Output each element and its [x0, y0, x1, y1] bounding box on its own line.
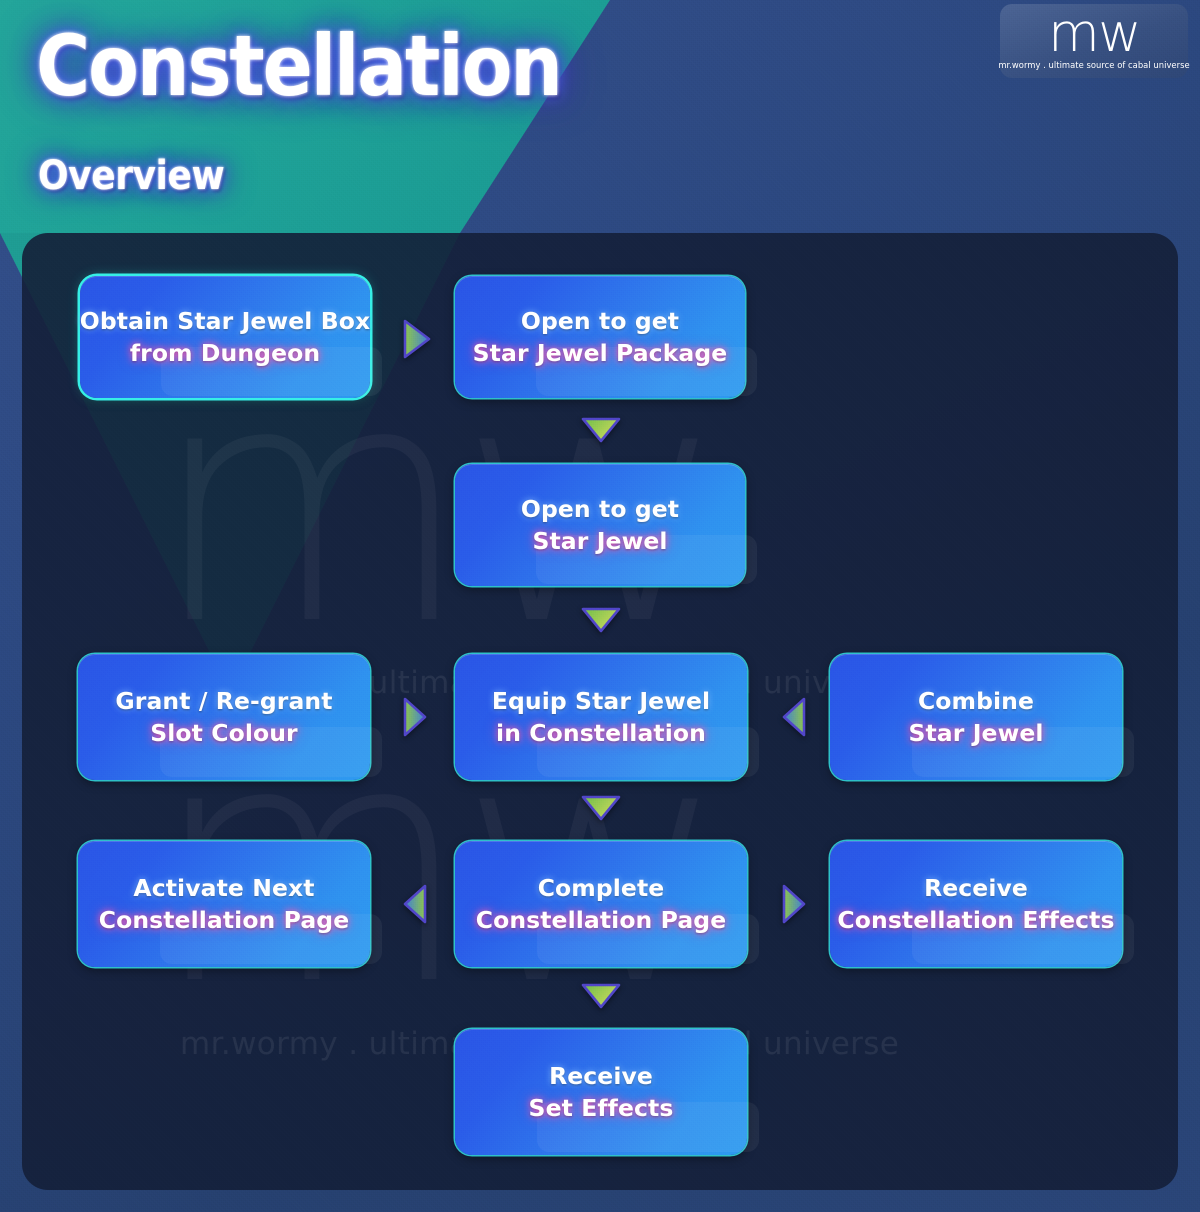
flow-node-complete-page[interactable]: Complete Constellation Page: [455, 841, 747, 967]
flow-node-obtain-star-jewel-box[interactable]: Obtain Star Jewel Box from Dungeon: [80, 276, 370, 398]
arrow-complete-to-activate: [400, 881, 430, 927]
page-title: Constellation: [36, 24, 561, 108]
mw-logo-mark: mw: [1048, 11, 1140, 57]
page-subtitle: Overview: [38, 156, 224, 196]
flow-node-line2: from Dungeon: [130, 337, 320, 369]
arrow-complete-to-set-effects: [578, 980, 624, 1012]
flow-node-activate-next-page[interactable]: Activate Next Constellation Page: [78, 841, 370, 967]
flow-node-line1: Complete: [538, 872, 665, 904]
mw-logo-tagline: mr.wormy . ultimate source of cabal univ…: [998, 60, 1189, 70]
flow-node-line2: in Constellation: [496, 717, 706, 749]
flow-node-line2: Set Effects: [529, 1092, 674, 1124]
flow-node-line2: Constellation Page: [476, 904, 727, 936]
flow-node-line2: Star Jewel Package: [473, 337, 728, 369]
flow-node-equip-star-jewel[interactable]: Equip Star Jewel in Constellation: [455, 654, 747, 780]
flow-node-line1: Receive: [549, 1060, 653, 1092]
flow-node-line2: Star Jewel: [908, 717, 1043, 749]
flow-node-line2: Constellation Page: [99, 904, 350, 936]
flow-node-line2: Slot Colour: [150, 717, 297, 749]
flow-node-line1: Receive: [924, 872, 1028, 904]
flow-node-combine-star-jewel[interactable]: Combine Star Jewel: [830, 654, 1122, 780]
flow-node-grant-slot-colour[interactable]: Grant / Re-grant Slot Colour: [78, 654, 370, 780]
arrow-grant-to-equip: [400, 694, 430, 740]
flow-node-line1: Equip Star Jewel: [492, 685, 710, 717]
flow-node-line1: Combine: [918, 685, 1034, 717]
flow-node-line1: Grant / Re-grant: [115, 685, 332, 717]
arrow-obtain-to-open-package: [400, 316, 434, 362]
arrow-complete-to-receive-effects: [779, 881, 809, 927]
flow-node-line1: Open to get: [521, 493, 679, 525]
flow-node-line1: Activate Next: [133, 872, 314, 904]
flow-node-open-star-jewel-package[interactable]: Open to get Star Jewel Package: [455, 276, 745, 398]
flow-node-receive-constellation-effects[interactable]: Receive Constellation Effects: [830, 841, 1122, 967]
flow-node-receive-set-effects[interactable]: Receive Set Effects: [455, 1029, 747, 1155]
arrow-open-package-to-open-jewel: [578, 414, 624, 446]
flow-node-open-star-jewel[interactable]: Open to get Star Jewel: [455, 464, 745, 586]
flow-node-line2: Constellation Effects: [837, 904, 1114, 936]
mw-logo-badge: mw mr.wormy . ultimate source of cabal u…: [1000, 4, 1188, 78]
arrow-combine-to-equip: [779, 694, 809, 740]
flow-node-line1: Open to get: [521, 305, 679, 337]
flow-node-line2: Star Jewel: [532, 525, 667, 557]
arrow-equip-to-complete: [578, 792, 624, 824]
infographic-canvas: Constellation Overview mw mr.wormy . ult…: [0, 0, 1200, 1212]
flow-node-line1: Obtain Star Jewel Box: [80, 305, 370, 337]
arrow-open-jewel-to-equip: [578, 604, 624, 636]
